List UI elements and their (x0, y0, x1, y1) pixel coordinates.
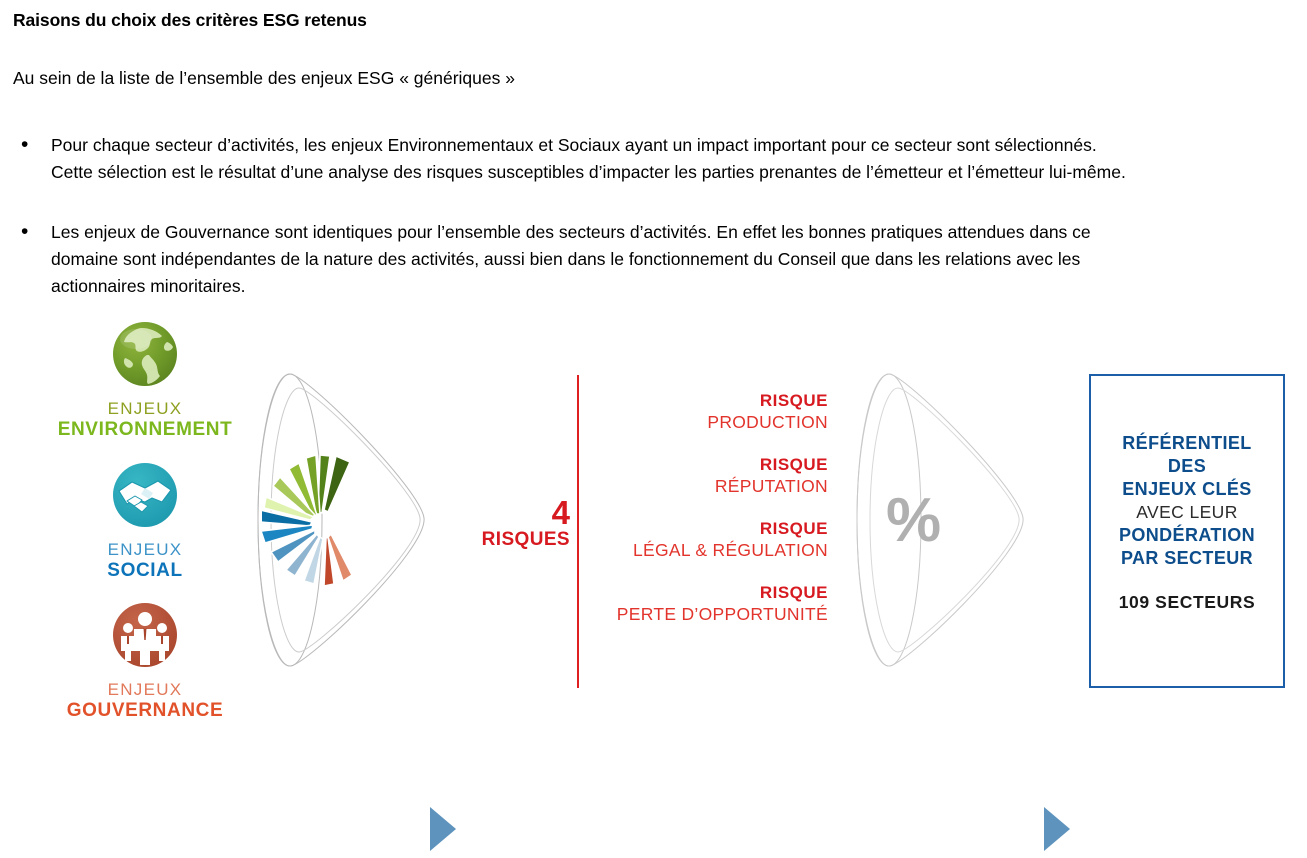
esg-pillar-caption-bottom: ENVIRONNEMENT (25, 419, 265, 441)
risk-name: PRODUCTION (596, 411, 828, 434)
esg-pillar-social: ENJEUX SOCIAL (25, 455, 265, 582)
people-group-icon (105, 595, 185, 675)
funnel-outline-icon (843, 360, 1043, 685)
result-line: PONDÉRATION (1091, 524, 1283, 547)
bullet-marker-icon: • (13, 132, 51, 158)
risk-kicker: RISQUE (596, 518, 828, 539)
risk-item-legal-regulation: RISQUE LÉGAL & RÉGULATION (596, 518, 828, 562)
bullet-line: Les enjeux de Gouvernance sont identique… (51, 219, 1307, 246)
esg-pillar-caption-top: ENJEUX (25, 540, 265, 560)
risk-kicker: RISQUE (596, 390, 828, 411)
esg-pillar-caption-top: ENJEUX (25, 680, 265, 700)
result-box-content: RÉFÉRENTIEL DES ENJEUX CLÉS AVEC LEUR PO… (1091, 432, 1283, 613)
risk-name: RÉPUTATION (596, 475, 828, 498)
risk-count-label: RISQUES (466, 529, 570, 551)
esg-pillar-caption-bottom: GOUVERNANCE (25, 700, 265, 722)
result-sectors-count: 109 SECTEURS (1091, 592, 1283, 613)
risk-list: RISQUE PRODUCTION RISQUE RÉPUTATION RISQ… (596, 390, 828, 646)
percent-symbol-icon: % (886, 490, 941, 552)
result-line: PAR SECTEUR (1091, 547, 1283, 570)
risk-count-callout: 4 RISQUES (466, 496, 570, 551)
esg-process-diagram: ENJEUX ENVIRONNEMENT (0, 300, 1307, 740)
triangle-right-arrow-icon (428, 805, 458, 858)
bullet-line: actionnaires minoritaires. (51, 273, 1307, 300)
result-line: DES (1091, 455, 1283, 478)
esg-pillar-caption-bottom: SOCIAL (25, 560, 265, 582)
bullet-item: • Pour chaque secteur d’activités, les e… (13, 132, 1307, 186)
risk-kicker: RISQUE (596, 582, 828, 603)
esg-pillar-environnement: ENJEUX ENVIRONNEMENT (25, 314, 265, 441)
handshake-icon (105, 455, 185, 535)
result-box: RÉFÉRENTIEL DES ENJEUX CLÉS AVEC LEUR PO… (1089, 374, 1285, 688)
page-title: Raisons du choix des critères ESG retenu… (13, 10, 367, 31)
intro-paragraph: Au sein de la liste de l’ensemble des en… (13, 68, 515, 89)
bullet-line: Cette sélection est le résultat d’une an… (51, 159, 1307, 186)
result-line: AVEC LEUR (1091, 501, 1283, 524)
esg-pillar-caption-top: ENJEUX (25, 399, 265, 419)
result-line: ENJEUX CLÉS (1091, 478, 1283, 501)
bullet-line: Pour chaque secteur d’activités, les enj… (51, 132, 1307, 159)
bullet-text: Les enjeux de Gouvernance sont identique… (51, 219, 1307, 300)
risk-name: LÉGAL & RÉGULATION (596, 539, 828, 562)
red-vertical-divider (577, 375, 579, 688)
risk-item-production: RISQUE PRODUCTION (596, 390, 828, 434)
triangle-right-arrow-icon (1042, 805, 1072, 858)
risk-item-reputation: RISQUE RÉPUTATION (596, 454, 828, 498)
bullet-item: • Les enjeux de Gouvernance sont identiq… (13, 219, 1307, 300)
bullet-marker-icon: • (13, 219, 51, 245)
risk-kicker: RISQUE (596, 454, 828, 475)
bullet-line: domaine sont indépendantes de la nature … (51, 246, 1307, 273)
bullet-text: Pour chaque secteur d’activités, les enj… (51, 132, 1307, 186)
risk-count-number: 4 (466, 496, 570, 529)
globe-icon (105, 314, 185, 394)
risk-name: PERTE D’OPPORTUNITÉ (596, 603, 828, 626)
result-line: RÉFÉRENTIEL (1091, 432, 1283, 455)
risk-item-perte-opportunite: RISQUE PERTE D’OPPORTUNITÉ (596, 582, 828, 626)
exploded-pie-chart-icon (262, 450, 382, 590)
esg-pillar-gouvernance: ENJEUX GOUVERNANCE (25, 595, 265, 722)
